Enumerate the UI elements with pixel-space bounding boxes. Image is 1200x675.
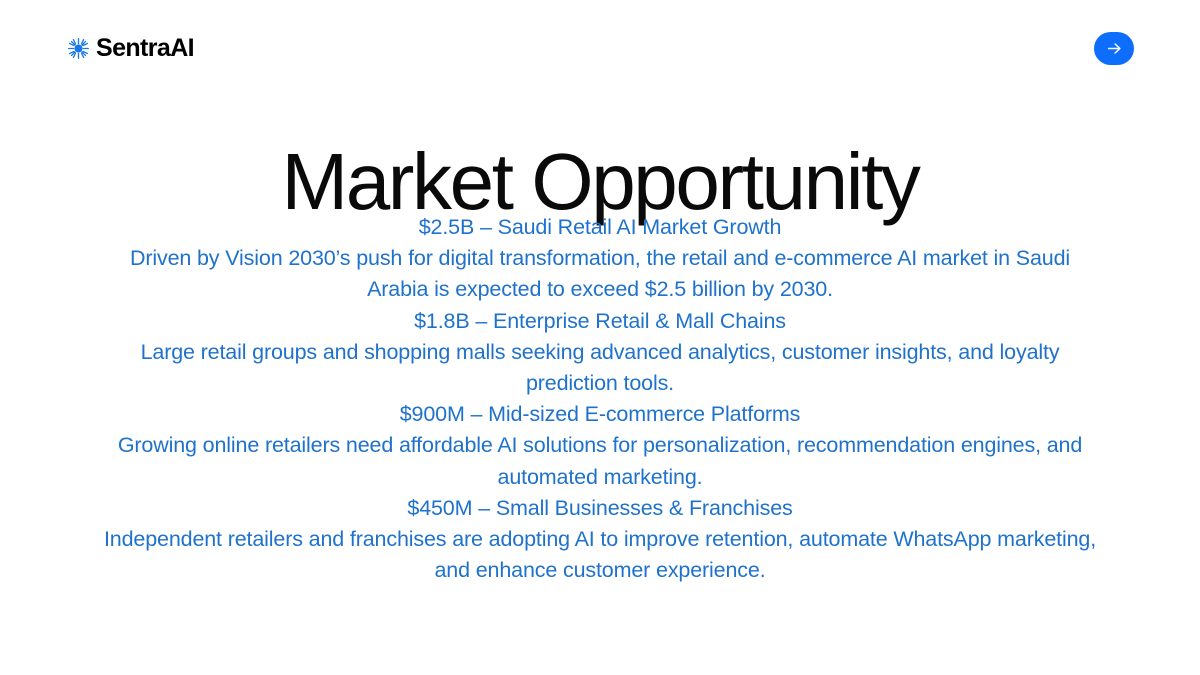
item-heading: $900M – Mid-sized E-commerce Platforms [100,399,1100,430]
market-opportunity-list: $2.5B – Saudi Retail AI Market Growth Dr… [100,212,1100,586]
list-item: $1.8B – Enterprise Retail & Mall Chains … [100,306,1100,400]
starburst-icon [68,38,89,59]
item-description: Driven by Vision 2030’s push for digital… [100,243,1100,305]
slide-header: SentraAI [0,28,1200,68]
item-description: Large retail groups and shopping malls s… [100,337,1100,399]
list-item: $900M – Mid-sized E-commerce Platforms G… [100,399,1100,493]
brand-logo[interactable]: SentraAI [68,28,194,68]
list-item: $2.5B – Saudi Retail AI Market Growth Dr… [100,212,1100,306]
item-description: Growing online retailers need affordable… [100,430,1100,492]
item-heading: $450M – Small Businesses & Franchises [100,493,1100,524]
item-heading: $2.5B – Saudi Retail AI Market Growth [100,212,1100,243]
slide-canvas: SentraAI Market Opportunity $2.5B – Saud… [0,0,1200,675]
next-slide-button[interactable] [1094,32,1134,65]
brand-name: SentraAI [96,36,194,61]
item-description: Independent retailers and franchises are… [100,524,1100,586]
page-title: Market Opportunity [0,142,1200,222]
item-heading: $1.8B – Enterprise Retail & Mall Chains [100,306,1100,337]
list-item: $450M – Small Businesses & Franchises In… [100,493,1100,587]
arrow-right-icon [1105,39,1124,58]
